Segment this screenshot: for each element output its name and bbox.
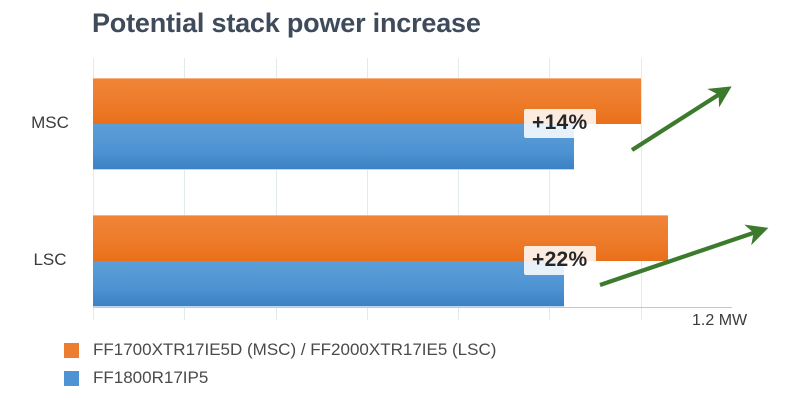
category-label-msc: MSC (14, 113, 86, 133)
category-label-lsc: LSC (14, 250, 86, 270)
legend-item-series-lower[interactable]: FF1800R17IP5 (64, 364, 496, 392)
delta-callout-lsc: +22% (524, 246, 596, 275)
legend-label-series-lower: FF1800R17IP5 (93, 368, 208, 388)
bar-msc-series-lower[interactable] (93, 124, 574, 170)
legend-item-series-upper[interactable]: FF1700XTR17IE5D (MSC) / FF2000XTR17IE5 (… (64, 336, 496, 364)
axis-max-label: 1.2 MW (692, 312, 747, 330)
gridline-6 (641, 58, 642, 320)
legend-label-series-upper: FF1700XTR17IE5D (MSC) / FF2000XTR17IE5 (… (93, 340, 496, 360)
axis-baseline (93, 307, 732, 308)
legend-swatch-blue-icon (64, 371, 79, 386)
chart-title: Potential stack power increase (92, 8, 481, 39)
legend-swatch-orange-icon (64, 343, 79, 358)
bar-lsc-series-lower[interactable] (93, 261, 564, 307)
delta-callout-msc: +14% (524, 109, 596, 138)
chart-legend: FF1700XTR17IE5D (MSC) / FF2000XTR17IE5 (… (64, 336, 496, 392)
chart-container: Potential stack power increase MSC LSC (0, 0, 795, 406)
